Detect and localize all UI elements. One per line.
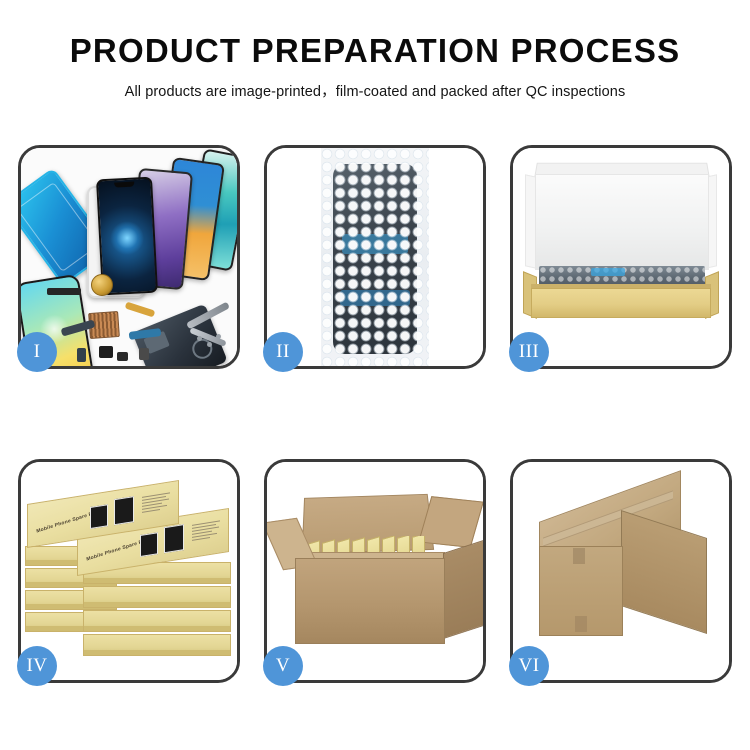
earpiece-strip: [47, 288, 81, 295]
phone-notch: [114, 182, 134, 188]
box-print-specs: [142, 492, 172, 515]
page-title: PRODUCT PREPARATION PROCESS: [0, 34, 750, 69]
carton-seam-bottom: [575, 616, 587, 632]
vibration-motor: [91, 274, 113, 296]
step-badge-1: I: [17, 332, 57, 372]
step-badge-5: V: [263, 646, 303, 686]
small-part-3: [139, 348, 149, 360]
box-print-phone-1: [90, 504, 108, 529]
process-steps-grid: I II: [18, 145, 732, 685]
step-image-1: [21, 148, 237, 366]
step-badge-2: II: [263, 332, 303, 372]
inner-box-scene: [513, 148, 729, 366]
bubble-texture-front: [321, 148, 429, 366]
speaker-module: [99, 346, 113, 358]
step-panel-5: V: [264, 459, 486, 683]
carton-side-face: [621, 510, 707, 634]
step-panel-2: II: [264, 145, 486, 369]
step-badge-6: VI: [509, 646, 549, 686]
sealed-carton-scene: [513, 462, 729, 680]
small-part-1: [77, 348, 86, 362]
box-print-phone-2: [164, 524, 184, 553]
phone-parts-scene: [21, 148, 237, 366]
small-part-2: [117, 352, 128, 361]
step-panel-6: VI: [510, 459, 732, 683]
flex-cable-b: [125, 302, 156, 318]
step-image-4: Mobile Phone Spare Parts Mobile Phone Sp…: [21, 462, 237, 680]
box-stack: Mobile Phone Spare Parts Mobile Phone Sp…: [21, 462, 237, 680]
stacked-box: [83, 610, 231, 632]
box-stack-scene: Mobile Phone Spare Parts Mobile Phone Sp…: [21, 462, 237, 680]
box-front-face: [531, 288, 711, 318]
product-preparation-infographic: PRODUCT PREPARATION PROCESS All products…: [0, 0, 750, 750]
step-panel-3: III: [510, 145, 732, 369]
carton-side-face: [443, 539, 483, 639]
foam-liner: [535, 174, 709, 270]
step-panel-1: I: [18, 145, 240, 369]
carton-seam-top: [573, 548, 585, 564]
box-print-phone-1: [140, 532, 158, 557]
carton-front-face: [295, 558, 445, 644]
screws-group: [197, 334, 223, 348]
page-subtitle: All products are image-printed，film-coat…: [0, 80, 750, 101]
stacked-box: [83, 634, 231, 656]
bubble-wrap-scene: [267, 148, 483, 366]
step-image-5: [267, 462, 483, 680]
step-image-3: [513, 148, 729, 366]
header: PRODUCT PREPARATION PROCESS All products…: [0, 0, 750, 101]
box-print-phone-2: [114, 496, 134, 525]
step-image-6: [513, 462, 729, 680]
step-badge-4: IV: [17, 646, 57, 686]
step-image-2: [267, 148, 483, 366]
carton-loading-scene: [267, 462, 483, 680]
box-print-specs: [192, 520, 222, 543]
step-badge-3: III: [509, 332, 549, 372]
step-panel-4: Mobile Phone Spare Parts Mobile Phone Sp…: [18, 459, 240, 683]
stacked-box: [83, 586, 231, 608]
